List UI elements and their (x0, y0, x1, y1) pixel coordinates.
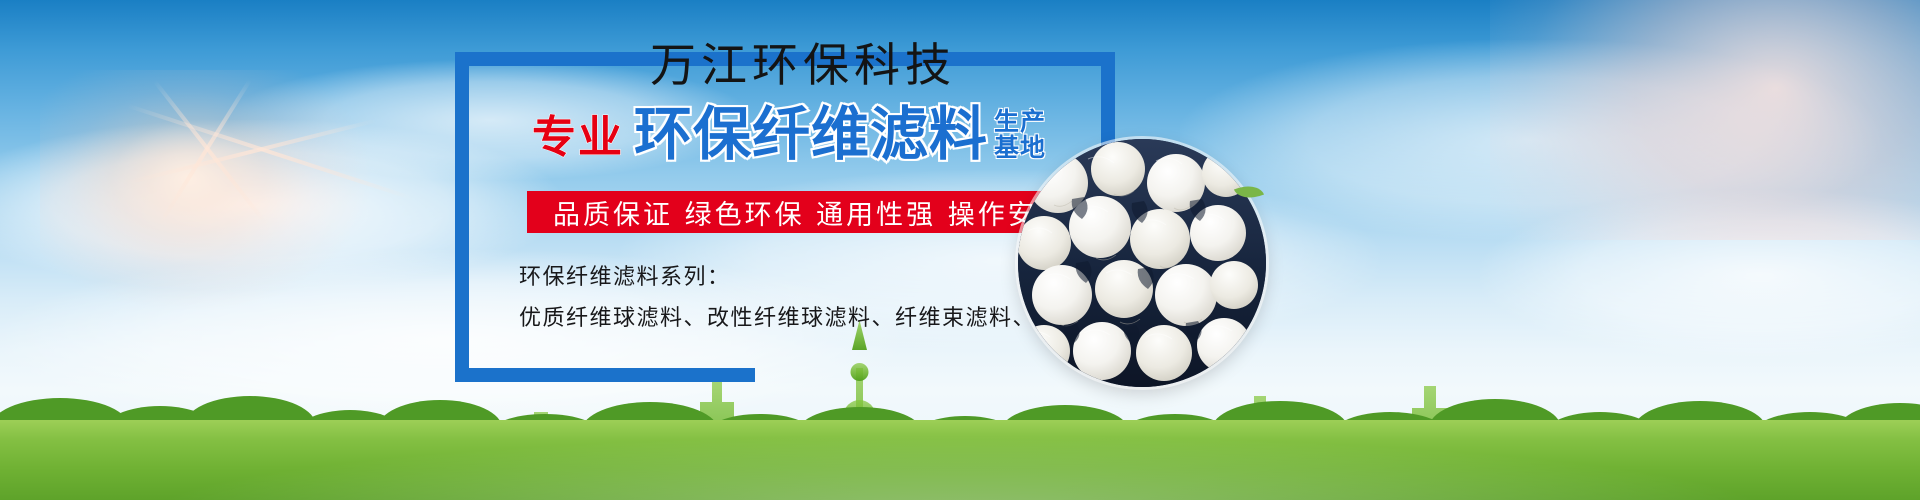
feature-bar-text: 品质保证 绿色环保 通用性强 操作安全 (553, 193, 1068, 232)
headline-main: 环保纤维滤料 (634, 105, 988, 163)
product-photo (1018, 139, 1266, 387)
feature-bar: 品质保证 绿色环保 通用性强 操作安全 (527, 191, 1094, 233)
description-line-1: 环保纤维滤料系列： (519, 259, 731, 291)
banner-content: 万江环保科技 专业 环保纤维滤料 生产 基地 品质保证 绿色环保 通用性强 操作… (0, 0, 1920, 500)
company-name: 万江环保科技 (650, 42, 956, 88)
headline-prefix: 专业 (532, 116, 624, 163)
headline: 专业 环保纤维滤料 生产 基地 (532, 105, 1046, 163)
headline-suffix-line1: 生产 (994, 109, 1046, 135)
headline-suffix: 生产 基地 (994, 109, 1046, 164)
promo-banner: 万江环保科技 专业 环保纤维滤料 生产 基地 品质保证 绿色环保 通用性强 操作… (0, 0, 1920, 500)
headline-suffix-line2: 基地 (994, 135, 1046, 161)
